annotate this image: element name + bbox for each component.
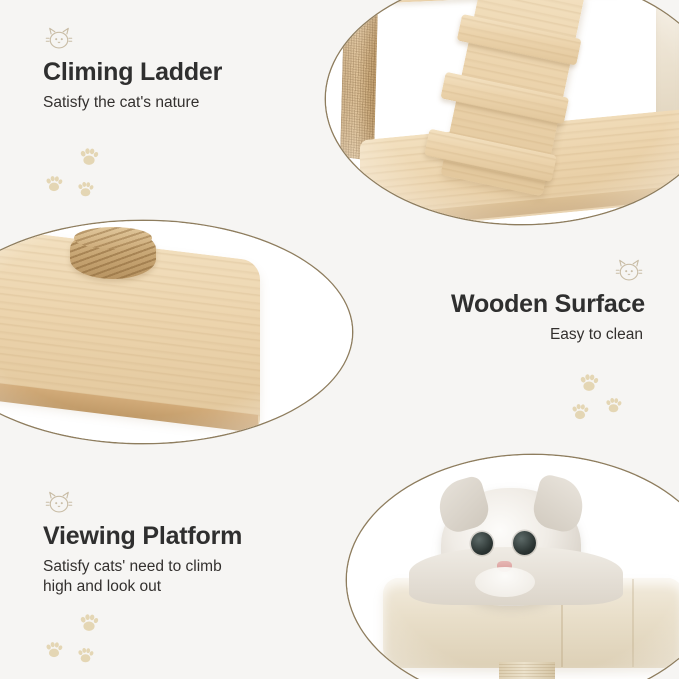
cat-face-icon <box>43 26 75 52</box>
feature-viewing-platform: Viewing Platform Satisfy cats' need to c… <box>43 490 242 598</box>
feature-subtitle: Satisfy the cat's nature <box>43 93 222 113</box>
feature-subtitle-line-1: Satisfy cats' need to climb <box>43 558 222 575</box>
paw-print-icon <box>44 640 64 660</box>
feature-title: Climing Ladder <box>43 58 222 86</box>
wooden-surface-scene <box>0 221 352 443</box>
paw-print-icon <box>578 372 600 394</box>
cat-muzzle <box>475 567 535 597</box>
paw-print-icon <box>76 180 95 199</box>
climbing-ladder-photo <box>326 0 679 224</box>
paw-print-icon <box>76 646 95 665</box>
feature-title: Wooden Surface <box>451 290 645 318</box>
feature-climbing-ladder: Climing Ladder Satisfy the cat's nature <box>43 26 222 113</box>
plush-bed-seam <box>632 579 634 667</box>
cat-eye-left <box>471 532 493 555</box>
paw-print-cluster <box>44 146 126 208</box>
paw-print-icon <box>78 146 100 168</box>
infographic-canvas: Climing Ladder Satisfy the cat's nature <box>0 0 679 679</box>
paw-print-icon <box>44 174 64 194</box>
paw-print-icon <box>78 612 100 634</box>
paw-print-icon <box>570 402 590 422</box>
feature-subtitle: Easy to clean <box>451 325 643 345</box>
feature-wooden-surface: Wooden Surface Easy to clean <box>451 258 645 345</box>
feature-subtitle-line-2: high and look out <box>43 578 161 595</box>
viewing-platform-scene <box>347 455 679 679</box>
left-sisal-post <box>340 2 378 161</box>
ladder-scene <box>326 0 679 224</box>
paw-print-cluster <box>570 372 652 434</box>
viewing-platform-photo <box>347 455 679 679</box>
wooden-surface-photo <box>0 221 352 443</box>
sisal-rope-post-rim <box>74 227 152 249</box>
cat-face-icon <box>613 258 645 284</box>
cat-eye-right <box>513 531 536 555</box>
support-column <box>499 662 555 679</box>
cat-face-icon <box>43 490 75 516</box>
feature-title: Viewing Platform <box>43 522 242 550</box>
paw-print-icon <box>604 396 623 415</box>
paw-print-cluster <box>44 612 126 674</box>
feature-subtitle: Satisfy cats' need to climb high and loo… <box>43 557 242 598</box>
